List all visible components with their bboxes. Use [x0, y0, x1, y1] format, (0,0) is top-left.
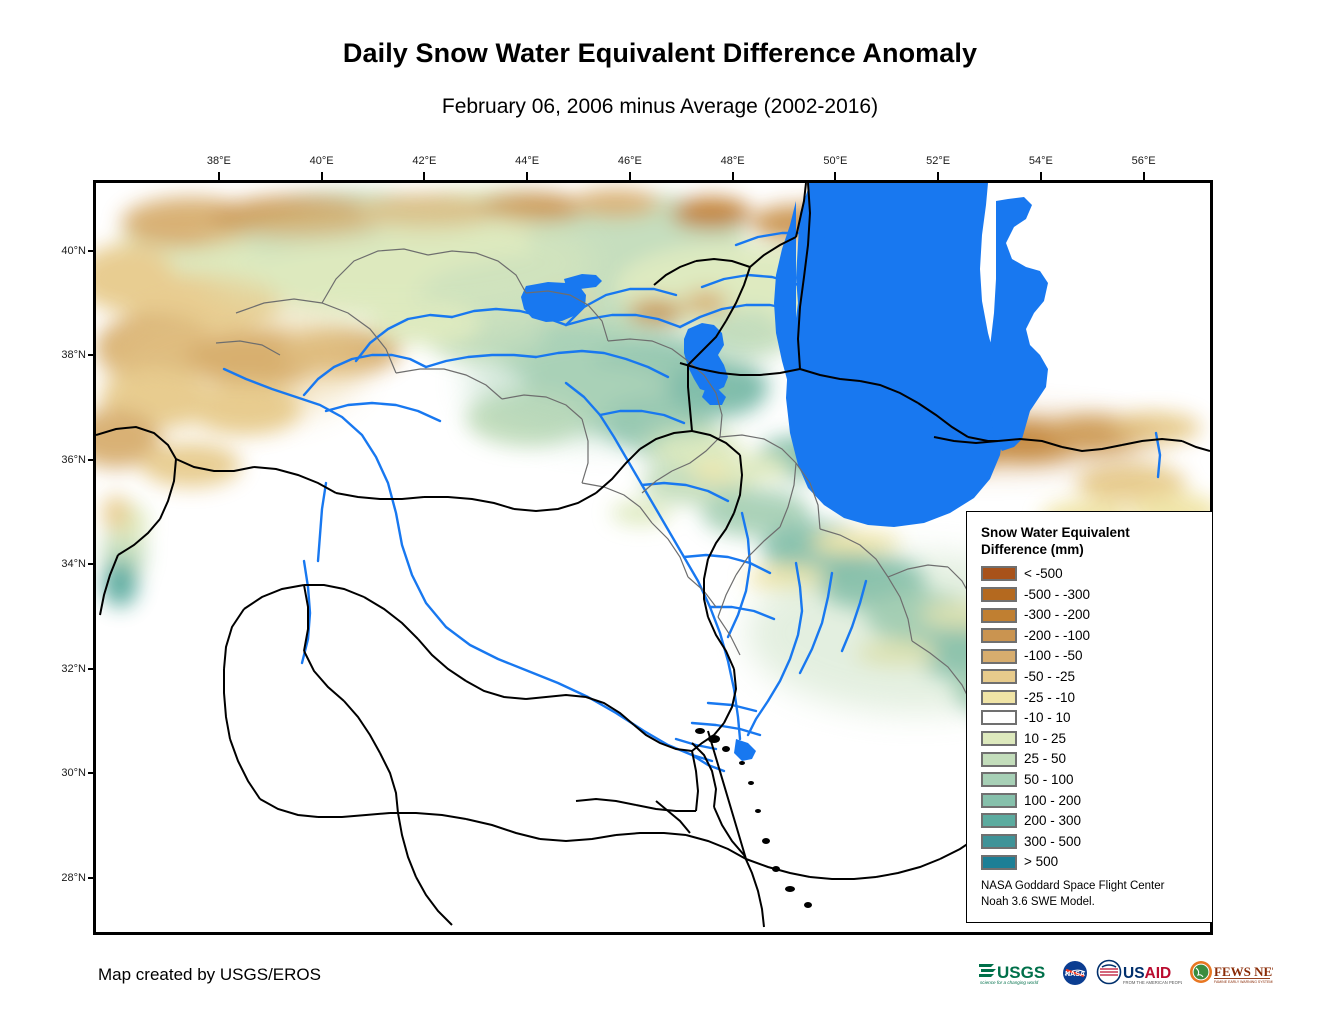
- legend-swatch: [981, 731, 1017, 746]
- legend-label: -300 - -200: [1024, 608, 1090, 622]
- svg-text:FAMINE EARLY WARNING SYSTEMS N: FAMINE EARLY WARNING SYSTEMS NETWORK: [1214, 980, 1273, 984]
- latitude-tick-label: 30°N: [50, 767, 86, 779]
- legend-swatch: [981, 855, 1017, 870]
- legend-row: 10 - 25: [981, 728, 1202, 749]
- longitude-tick-label: 38°E: [207, 155, 231, 167]
- legend-row: 100 - 200: [981, 790, 1202, 811]
- legend-swatch: [981, 566, 1017, 581]
- legend-row: 300 - 500: [981, 831, 1202, 852]
- legend-label: 200 - 300: [1024, 814, 1081, 828]
- legend-row: -200 - -100: [981, 625, 1202, 646]
- legend-swatch: [981, 669, 1017, 684]
- legend-label: -100 - -50: [1024, 649, 1083, 663]
- legend-swatch: [981, 587, 1017, 602]
- map-credit: Map created by USGS/EROS: [98, 965, 321, 985]
- legend-swatch: [981, 608, 1017, 623]
- latitude-tick-label: 38°N: [50, 349, 86, 361]
- legend-swatch: [981, 834, 1017, 849]
- latitude-tick-label: 32°N: [50, 663, 86, 675]
- legend-row: -10 - 10: [981, 708, 1202, 729]
- longitude-tick-label: 40°E: [310, 155, 334, 167]
- svg-text:science for a changing world: science for a changing world: [980, 980, 1039, 985]
- legend-swatch: [981, 813, 1017, 828]
- longitude-tick-label: 46°E: [618, 155, 642, 167]
- legend-swatch: [981, 793, 1017, 808]
- latitude-tick-label: 34°N: [50, 558, 86, 570]
- page-title: Daily Snow Water Equivalent Difference A…: [0, 38, 1320, 69]
- legend-title: Snow Water Equivalent Difference (mm): [981, 524, 1202, 559]
- usaid-logo: USAID FROM THE AMERICAN PEOPLE: [1096, 959, 1182, 987]
- latitude-tick-label: 36°N: [50, 454, 86, 466]
- legend-label: -200 - -100: [1024, 629, 1090, 643]
- legend-source-note: NASA Goddard Space Flight Center Noah 3.…: [981, 879, 1202, 909]
- page-subtitle: February 06, 2006 minus Average (2002-20…: [0, 95, 1320, 119]
- usgs-logo: USGS science for a changing world: [978, 959, 1054, 987]
- legend-title-line1: Snow Water Equivalent: [981, 525, 1130, 540]
- fewsnet-logo: FEWS NET FAMINE EARLY WARNING SYSTEMS NE…: [1189, 959, 1273, 987]
- legend-row: < -500: [981, 564, 1202, 585]
- longitude-tick-label: 56°E: [1132, 155, 1156, 167]
- svg-text:FROM THE AMERICAN PEOPLE: FROM THE AMERICAN PEOPLE: [1123, 980, 1182, 985]
- legend-swatch: [981, 690, 1017, 705]
- latitude-tick-label: 40°N: [50, 245, 86, 257]
- legend-row: -25 - -10: [981, 687, 1202, 708]
- legend-row: 50 - 100: [981, 769, 1202, 790]
- legend-title-line2: Difference (mm): [981, 542, 1084, 557]
- legend-row: -500 - -300: [981, 584, 1202, 605]
- longitude-tick-label: 44°E: [515, 155, 539, 167]
- legend-swatch: [981, 772, 1017, 787]
- legend-label: -25 - -10: [1024, 691, 1075, 705]
- longitude-tick-label: 48°E: [721, 155, 745, 167]
- svg-text:FEWS NET: FEWS NET: [1214, 964, 1273, 979]
- legend-source-line2: Noah 3.6 SWE Model.: [981, 895, 1202, 910]
- legend-source-line1: NASA Goddard Space Flight Center: [981, 879, 1202, 894]
- legend-label: 10 - 25: [1024, 732, 1066, 746]
- legend-label: -500 - -300: [1024, 588, 1090, 602]
- legend-class-list: < -500-500 - -300-300 - -200-200 - -100-…: [981, 564, 1202, 873]
- legend-swatch: [981, 710, 1017, 725]
- map-legend: Snow Water Equivalent Difference (mm) < …: [966, 511, 1213, 923]
- legend-label: 100 - 200: [1024, 794, 1081, 808]
- nasa-logo: NASA: [1061, 959, 1089, 987]
- longitude-tick-label: 54°E: [1029, 155, 1053, 167]
- legend-label: < -500: [1024, 567, 1063, 581]
- latitude-tick-label: 28°N: [50, 872, 86, 884]
- longitude-tick-label: 52°E: [926, 155, 950, 167]
- legend-label: -10 - 10: [1024, 711, 1071, 725]
- legend-label: 300 - 500: [1024, 835, 1081, 849]
- partner-logo-strip: USGS science for a changing world NASA U…: [978, 958, 1273, 988]
- legend-row: 200 - 300: [981, 811, 1202, 832]
- legend-swatch: [981, 752, 1017, 767]
- legend-row: -300 - -200: [981, 605, 1202, 626]
- legend-row: 25 - 50: [981, 749, 1202, 770]
- longitude-tick-label: 50°E: [823, 155, 847, 167]
- legend-swatch: [981, 649, 1017, 664]
- legend-label: > 500: [1024, 855, 1058, 869]
- legend-row: > 500: [981, 852, 1202, 873]
- legend-label: 50 - 100: [1024, 773, 1074, 787]
- legend-row: -100 - -50: [981, 646, 1202, 667]
- legend-label: 25 - 50: [1024, 752, 1066, 766]
- legend-label: -50 - -25: [1024, 670, 1075, 684]
- legend-row: -50 - -25: [981, 667, 1202, 688]
- longitude-tick-label: 42°E: [412, 155, 436, 167]
- legend-swatch: [981, 628, 1017, 643]
- svg-text:NASA: NASA: [1065, 971, 1085, 978]
